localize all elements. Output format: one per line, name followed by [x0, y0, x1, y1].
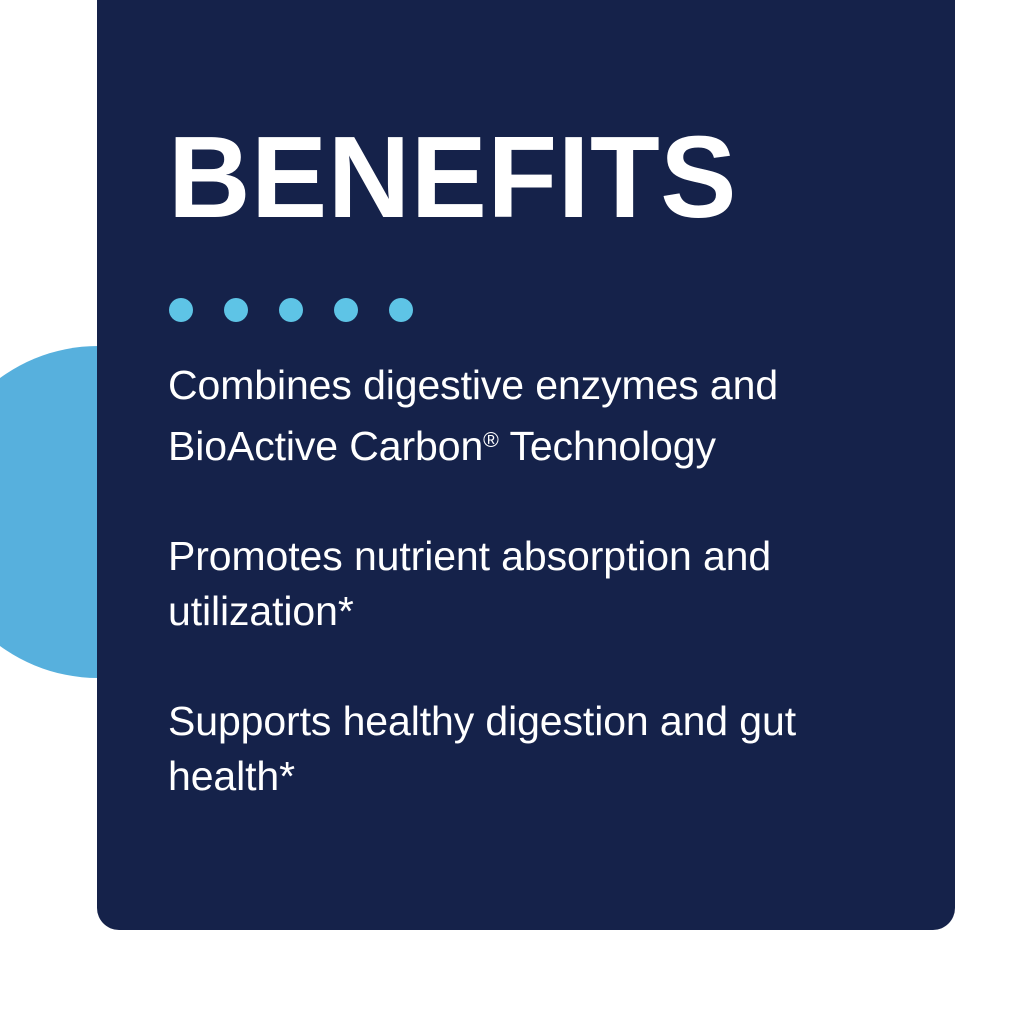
benefits-panel: BENEFITS Combines digestive enzymes and … [97, 0, 955, 930]
benefit-3-text: Supports healthy digestion and gut healt… [168, 698, 796, 799]
benefit-1-text-tail: Technology [499, 423, 716, 469]
divider-dot-2 [224, 298, 248, 322]
benefits-list: Combines digestive enzymes and BioActive… [168, 358, 925, 804]
benefit-item-3: Supports healthy digestion and gut healt… [168, 694, 903, 804]
benefit-2-text: Promotes nutrient absorption and utiliza… [168, 533, 771, 634]
divider-dot-5 [389, 298, 413, 322]
benefits-card: BENEFITS Combines digestive enzymes and … [0, 0, 1024, 1024]
divider-dot-4 [334, 298, 358, 322]
benefits-panel-content: BENEFITS Combines digestive enzymes and … [168, 0, 925, 930]
registered-trademark-icon: ® [483, 428, 499, 452]
divider-dot-1 [169, 298, 193, 322]
benefit-item-2: Promotes nutrient absorption and utiliza… [168, 529, 903, 639]
divider-dot-3 [279, 298, 303, 322]
benefit-item-1: Combines digestive enzymes and BioActive… [168, 358, 903, 474]
dot-divider [169, 298, 413, 322]
page-title: BENEFITS [168, 128, 737, 228]
